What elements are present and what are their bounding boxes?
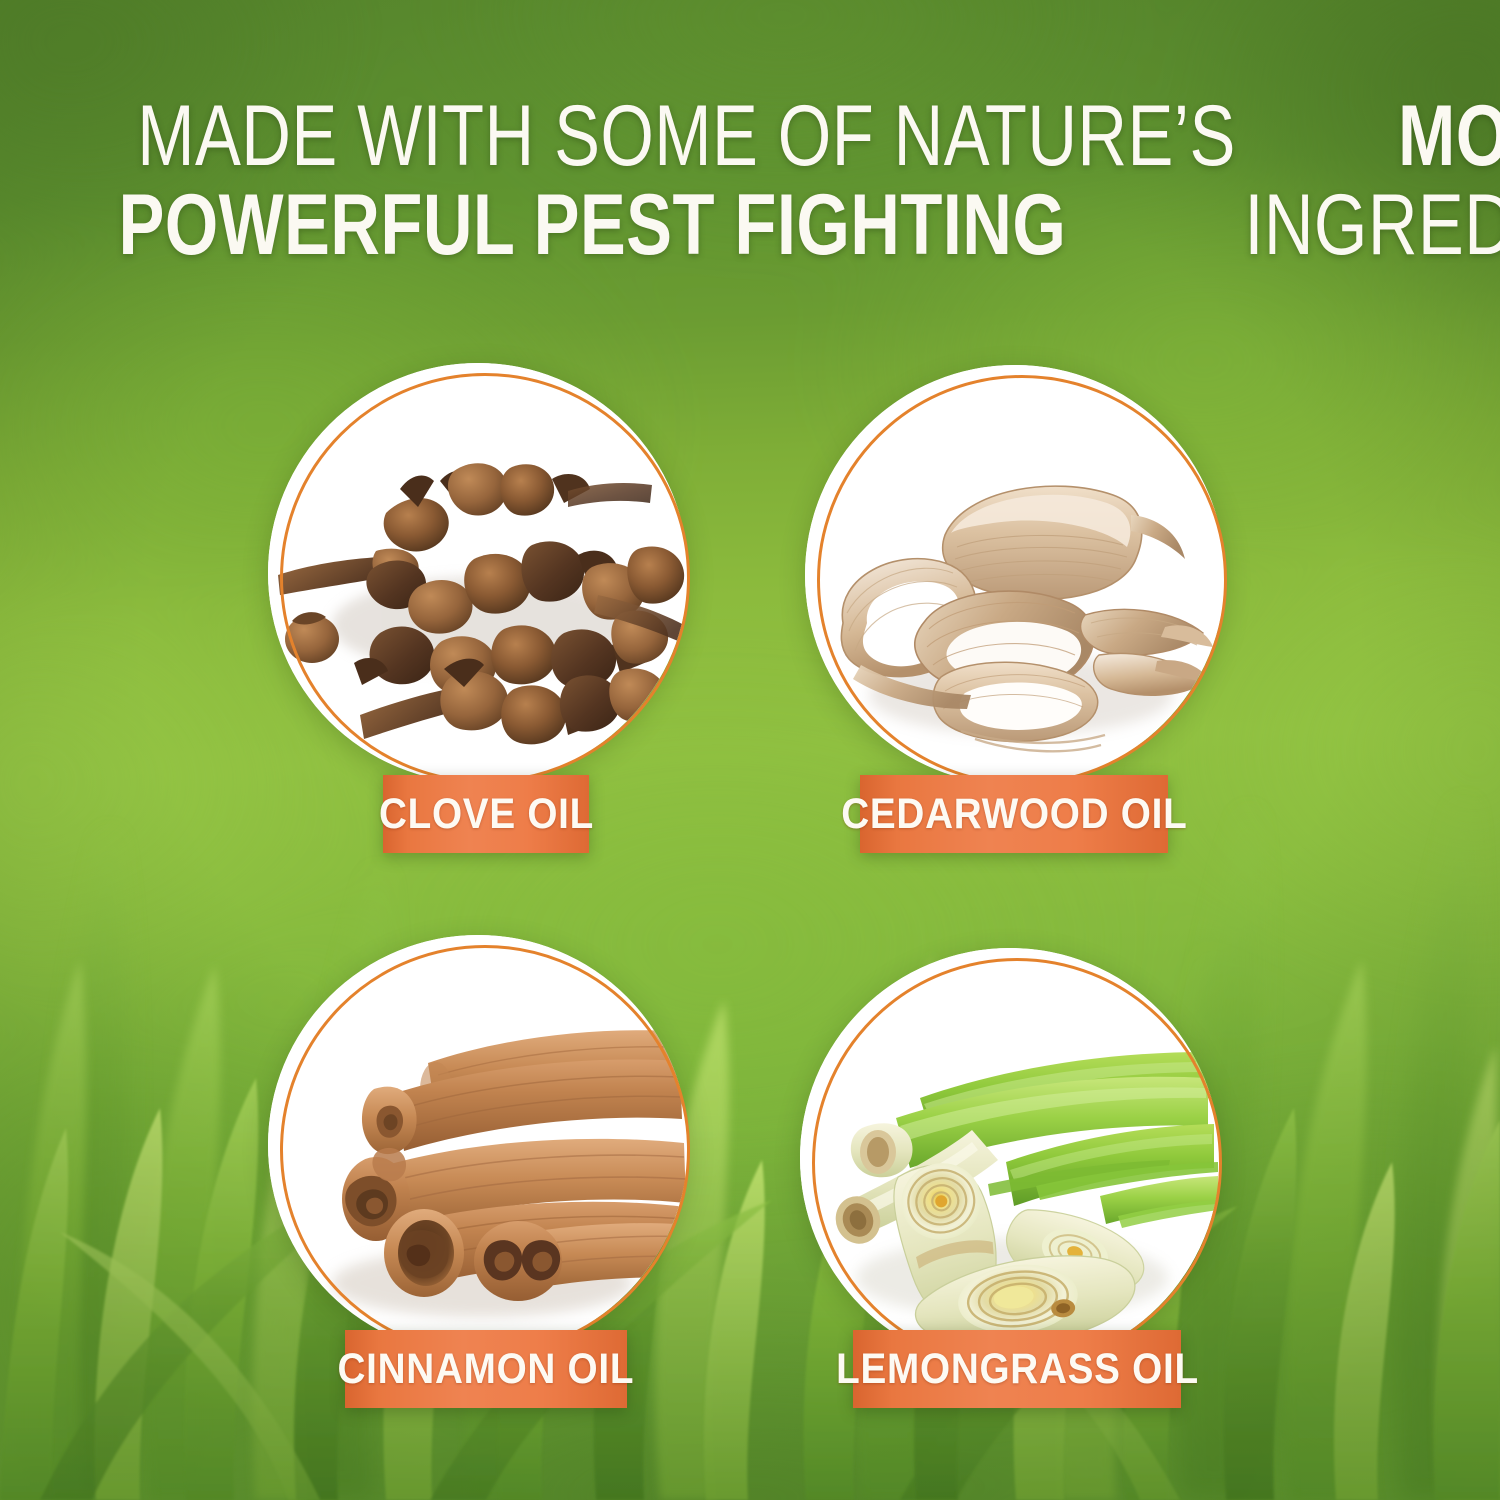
clove-buds-photo <box>268 363 688 783</box>
cedarwood-shavings-photo <box>805 365 1225 785</box>
label-text-cedarwood: CEDARWOOD OIL <box>841 790 1187 839</box>
clove-disc <box>268 363 688 783</box>
cinnamon-disc <box>268 935 688 1355</box>
headline-line1-bold: MOST <box>1398 96 1500 177</box>
headline-line2-bold: POWERFUL PEST FIGHTING <box>118 185 1066 266</box>
headline-line2-light: INGREDIENTS <box>1244 185 1500 266</box>
label-badge-cedarwood[interactable]: CEDARWOOD OIL <box>860 775 1168 853</box>
cedarwood-disc <box>805 365 1225 785</box>
ingredient-circle-cinnamon <box>268 935 688 1355</box>
page-headline: MADE WITH SOME OF NATURE’SMOST POWERFUL … <box>0 96 1500 266</box>
label-badge-cinnamon[interactable]: CINNAMON OIL <box>345 1330 627 1408</box>
cinnamon-sticks-photo <box>268 935 688 1355</box>
headline-line-1: MADE WITH SOME OF NATURE’SMOST <box>0 96 1500 177</box>
label-badge-lemongrass[interactable]: LEMONGRASS OIL <box>853 1330 1181 1408</box>
ingredient-circle-cedarwood <box>805 365 1225 785</box>
label-text-lemongrass: LEMONGRASS OIL <box>836 1345 1199 1394</box>
ingredient-circle-lemongrass <box>800 948 1220 1368</box>
infographic-canvas: MADE WITH SOME OF NATURE’SMOST POWERFUL … <box>0 0 1500 1500</box>
ingredient-circle-clove <box>268 363 688 783</box>
label-badge-clove[interactable]: CLOVE OIL <box>383 775 589 853</box>
lemongrass-disc <box>800 948 1220 1368</box>
label-text-cinnamon: CINNAMON OIL <box>338 1345 635 1394</box>
label-text-clove: CLOVE OIL <box>378 790 593 839</box>
lemongrass-stalks-photo <box>800 948 1220 1368</box>
headline-line1-light: MADE WITH SOME OF NATURE’S <box>137 96 1235 177</box>
headline-line-2: POWERFUL PEST FIGHTINGINGREDIENTS <box>0 185 1500 266</box>
